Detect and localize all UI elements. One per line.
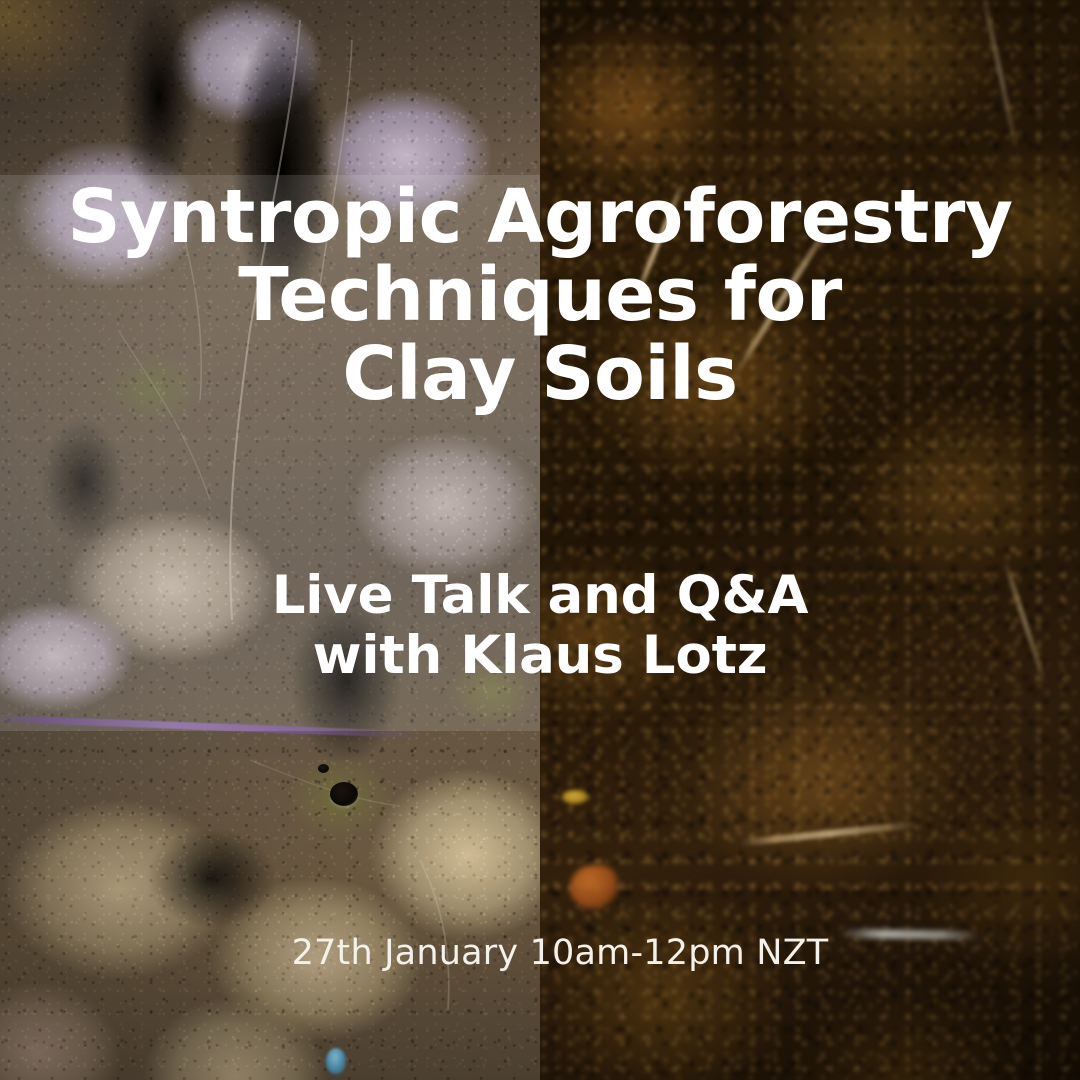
headline-line-3: Clay Soils (0, 335, 1080, 413)
poster-canvas: Syntropic Agroforestry Techniques for Cl… (0, 0, 1080, 1080)
headline-line-2: Techniques for (0, 256, 1080, 334)
subheadline-line-2: with Klaus Lotz (0, 626, 1080, 686)
headline-line-1: Syntropic Agroforestry (0, 178, 1080, 256)
event-datetime: 27th January 10am-12pm NZT (0, 933, 1080, 973)
subheadline-line-1: Live Talk and Q&A (0, 566, 1080, 626)
poster-content: Syntropic Agroforestry Techniques for Cl… (0, 0, 1080, 1080)
poster-headline: Syntropic Agroforestry Techniques for Cl… (0, 178, 1080, 413)
poster-subheadline: Live Talk and Q&A with Klaus Lotz (0, 566, 1080, 687)
